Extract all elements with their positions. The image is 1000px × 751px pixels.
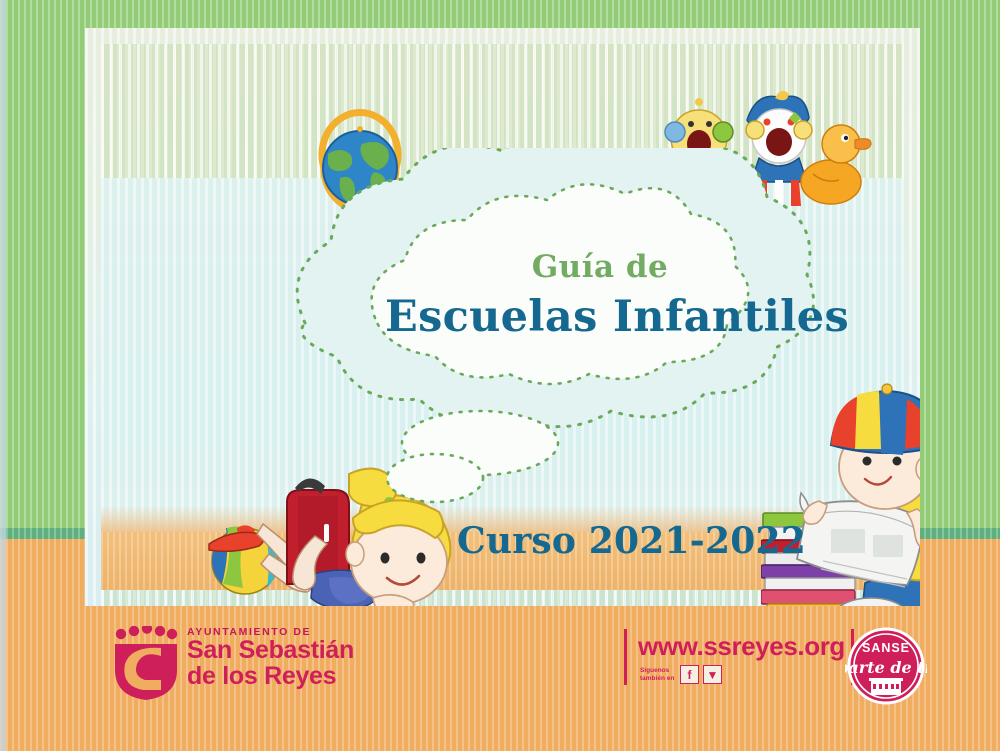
social-label-line2: también en — [640, 675, 676, 682]
twitter-icon[interactable]: ▼ — [703, 665, 722, 684]
sanse-script-text: parte de ti — [845, 658, 927, 677]
thought-bubble-shape — [235, 148, 885, 548]
town-hall-icon — [869, 678, 903, 695]
website-url[interactable]: www.ssreyes.org — [638, 631, 845, 662]
illustration-frame: Guía de Escuelas Infantiles Curso 2021-2… — [85, 28, 920, 606]
website-block: www.ssreyes.org Síguenos también en f ▼ — [624, 627, 854, 691]
ayuntamiento-line1: San Sebastián — [187, 638, 367, 664]
social-label-line1: Síguenos — [640, 667, 676, 674]
sanse-badge-logo[interactable]: SANSE parte de ti — [845, 625, 927, 707]
facebook-icon[interactable]: f — [680, 665, 699, 684]
ayuntamiento-logo[interactable]: AYUNTAMIENTO DE San Sebastián de los Rey… — [113, 626, 363, 702]
divider-left — [624, 629, 627, 685]
sanse-top-text: SANSE — [862, 641, 910, 655]
social-label: Síguenos también en — [640, 667, 676, 682]
social-links: Síguenos también en f ▼ — [640, 665, 722, 684]
course-year-label: Curso 2021-2022 — [457, 520, 806, 562]
ayuntamiento-line2: de los Reyes — [187, 664, 367, 690]
thought-bubble — [235, 148, 885, 548]
ayuntamiento-shield-icon — [113, 626, 179, 700]
footer: AYUNTAMIENTO DE San Sebastián de los Rey… — [0, 607, 1000, 751]
ayuntamiento-text: AYUNTAMIENTO DE San Sebastián de los Rey… — [187, 626, 367, 689]
poster-cover: Guía de Escuelas Infantiles Curso 2021-2… — [0, 0, 1000, 751]
